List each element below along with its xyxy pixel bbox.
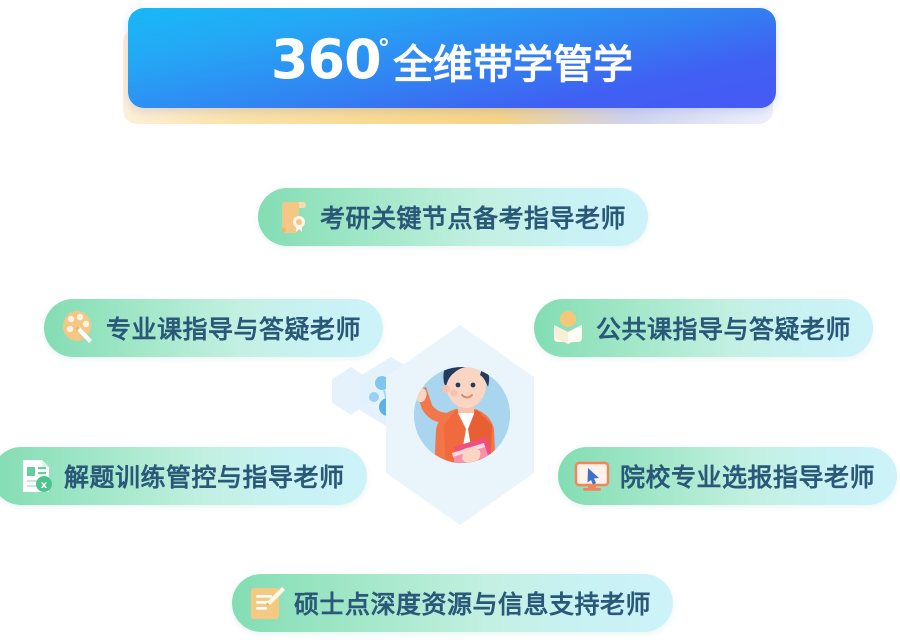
svg-text:x: x <box>41 480 48 491</box>
banner-title: 360 ° 全维带学管学 <box>271 33 633 87</box>
note-pencil-icon <box>246 583 286 623</box>
pill-public-course[interactable]: 公共课指导与答疑老师 <box>534 299 873 357</box>
pill-problem-train[interactable]: x 解题训练管控与指导老师 <box>0 447 367 505</box>
pill-label: 考研关键节点备考指导老师 <box>320 199 626 235</box>
degree-symbol-icon: ° <box>379 34 389 60</box>
pill-school-select[interactable]: 院校专业选报指导老师 <box>558 447 897 505</box>
pill-label: 硕士点深度资源与信息支持老师 <box>294 585 651 621</box>
scroll-certificate-icon <box>272 197 312 237</box>
pill-label: 专业课指导与答疑老师 <box>106 310 361 346</box>
monitor-cursor-icon <box>572 456 612 496</box>
banner-body: 360 ° 全维带学管学 <box>128 8 776 108</box>
pill-label: 公共课指导与答疑老师 <box>596 310 851 346</box>
teacher-illustration <box>378 325 538 540</box>
pill-key-nodes[interactable]: 考研关键节点备考指导老师 <box>258 188 648 246</box>
document-check-icon: x <box>16 456 56 496</box>
person-figure <box>378 325 538 540</box>
pill-master-res[interactable]: 硕士点深度资源与信息支持老师 <box>232 574 673 632</box>
banner-title-number: 360 <box>271 33 381 87</box>
header-banner: 360 ° 全维带学管学 <box>128 8 776 120</box>
palette-icon <box>58 308 98 348</box>
pill-label: 解题训练管控与指导老师 <box>64 458 345 494</box>
pill-label: 院校专业选报指导老师 <box>620 458 875 494</box>
pill-major-course[interactable]: 专业课指导与答疑老师 <box>44 299 383 357</box>
open-book-icon <box>548 308 588 348</box>
banner-title-chinese: 全维带学管学 <box>393 45 633 85</box>
